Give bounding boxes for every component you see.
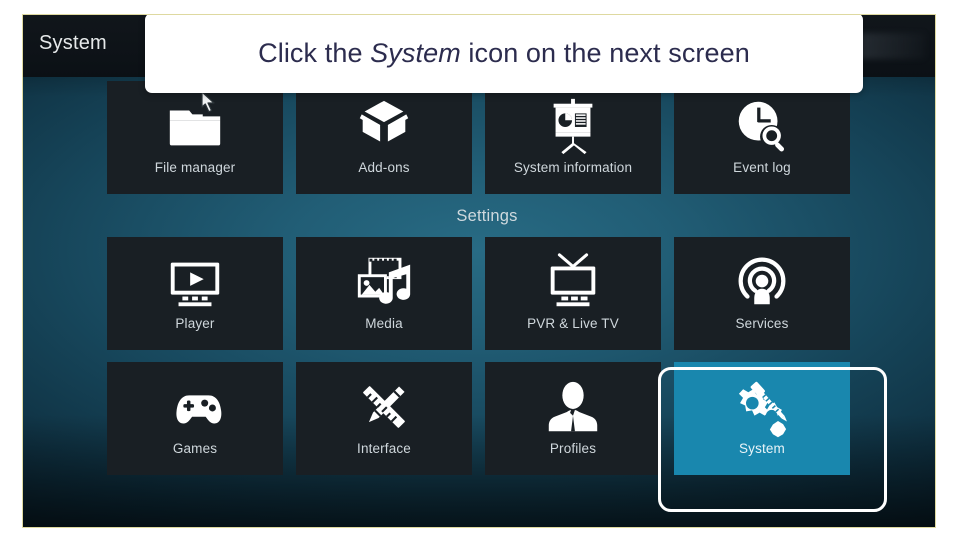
tile-label: Services [736,316,789,331]
tile-label: System [739,441,785,456]
tile-row-settings-1: Player [107,237,867,350]
screenshot-root: System File manager [0,0,960,540]
tile-player[interactable]: Player [107,237,283,350]
photo-music-icon [353,251,415,313]
settings-grid: File manager Add-ons [107,81,867,475]
tile-label: Interface [357,441,411,456]
tile-profiles[interactable]: Profiles [485,362,661,475]
presentation-chart-icon [542,95,604,157]
open-box-icon [353,95,415,157]
tile-label: File manager [155,160,236,175]
tile-system-information[interactable]: System information [485,81,661,194]
tile-services[interactable]: Services [674,237,850,350]
tile-label: PVR & Live TV [527,316,619,331]
tile-label: Add-ons [358,160,409,175]
monitor-play-icon [164,251,226,313]
tile-label: Games [173,441,217,456]
tile-media[interactable]: Media [296,237,472,350]
tile-event-log[interactable]: Event log [674,81,850,194]
application-frame: System File manager [22,14,936,528]
tile-interface[interactable]: Interface [296,362,472,475]
instruction-text-after: icon on the next screen [461,38,750,68]
tile-system[interactable]: System [674,362,850,475]
tile-row-settings-2: Games [107,362,867,475]
page-title: System [39,32,107,55]
gear-screwdriver-icon [731,376,793,438]
tile-label: System information [514,160,632,175]
tile-row-utilities: File manager Add-ons [107,81,867,194]
tile-pvr-live-tv[interactable]: PVR & Live TV [485,237,661,350]
instruction-text-before: Click the [258,38,370,68]
instruction-text: Click the System icon on the next screen [258,38,750,69]
user-silhouette-icon [542,376,604,438]
tile-games[interactable]: Games [107,362,283,475]
podcast-person-icon [731,251,793,313]
tile-add-ons[interactable]: Add-ons [296,81,472,194]
instruction-callout: Click the System icon on the next screen [145,14,863,93]
tile-label: Player [175,316,214,331]
clock-search-icon [731,95,793,157]
tv-antenna-icon [542,251,604,313]
tile-label: Event log [733,160,791,175]
tile-label: Media [365,316,403,331]
instruction-emphasis: System [370,38,461,68]
gamepad-icon [164,376,226,438]
mouse-pointer-icon [201,91,217,113]
tile-label: Profiles [550,441,596,456]
pencil-ruler-icon [353,376,415,438]
tile-file-manager[interactable]: File manager [107,81,283,194]
section-label-settings: Settings [107,194,867,237]
